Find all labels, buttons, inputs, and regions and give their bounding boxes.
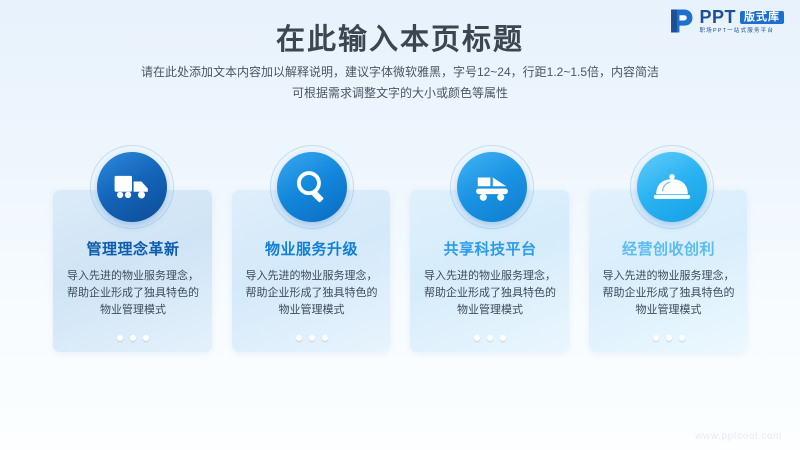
cloche-icon-glyph	[653, 171, 691, 203]
dot	[309, 335, 315, 341]
cloche-icon	[637, 152, 707, 222]
dot	[322, 335, 328, 341]
car-icon-glyph	[473, 172, 511, 202]
slide-canvas: PPT 版式库 职场PPT一站式服务平台 在此输入本页标题 请在此处添加文本内容…	[0, 0, 800, 450]
dot	[487, 335, 493, 341]
dot	[653, 335, 659, 341]
card-body: 导入先进的物业服务理念，帮助企业形成了独具特色的物业管理模式	[65, 268, 201, 319]
dot	[130, 335, 136, 341]
dot	[117, 335, 123, 341]
card-title: 管理理念革新	[53, 238, 213, 259]
dot	[500, 335, 506, 341]
magnifier-icon-glyph	[295, 170, 329, 204]
card-dots	[232, 335, 392, 341]
truck-icon	[97, 152, 167, 222]
card-icon-badge	[270, 145, 356, 231]
dot	[296, 335, 302, 341]
card-body: 导入先进的物业服务理念，帮助企业形成了独具特色的物业管理模式	[244, 268, 380, 319]
subtitle-line-2: 可根据需求调整文字的大小或颜色等属性	[0, 83, 800, 104]
subtitle-line-1: 请在此处添加文本内容加以解释说明，建议字体微软雅黑，字号12~24，行距1.2~…	[0, 62, 800, 83]
truck-icon-glyph	[113, 172, 151, 202]
card-title: 物业服务升级	[232, 238, 392, 259]
card-icon-badge	[450, 145, 536, 231]
card-icon-badge	[90, 145, 176, 231]
card-body: 导入先进的物业服务理念，帮助企业形成了独具特色的物业管理模式	[601, 268, 737, 319]
card-dots	[53, 335, 213, 341]
dot	[143, 335, 149, 341]
watermark: www.pptcool.com	[695, 431, 782, 442]
car-icon	[457, 152, 527, 222]
dot	[666, 335, 672, 341]
dot	[474, 335, 480, 341]
magnifier-icon	[277, 152, 347, 222]
card-title: 共享科技平台	[410, 238, 570, 259]
card-icon-badge	[630, 145, 716, 231]
dot	[679, 335, 685, 341]
page-subtitle: 请在此处添加文本内容加以解释说明，建议字体微软雅黑，字号12~24，行距1.2~…	[0, 62, 800, 104]
card-body: 导入先进的物业服务理念，帮助企业形成了独具特色的物业管理模式	[422, 268, 558, 319]
card-dots	[410, 335, 570, 341]
card-title: 经营创收创利	[589, 238, 749, 259]
card-dots	[589, 335, 749, 341]
page-title: 在此输入本页标题	[0, 16, 800, 58]
